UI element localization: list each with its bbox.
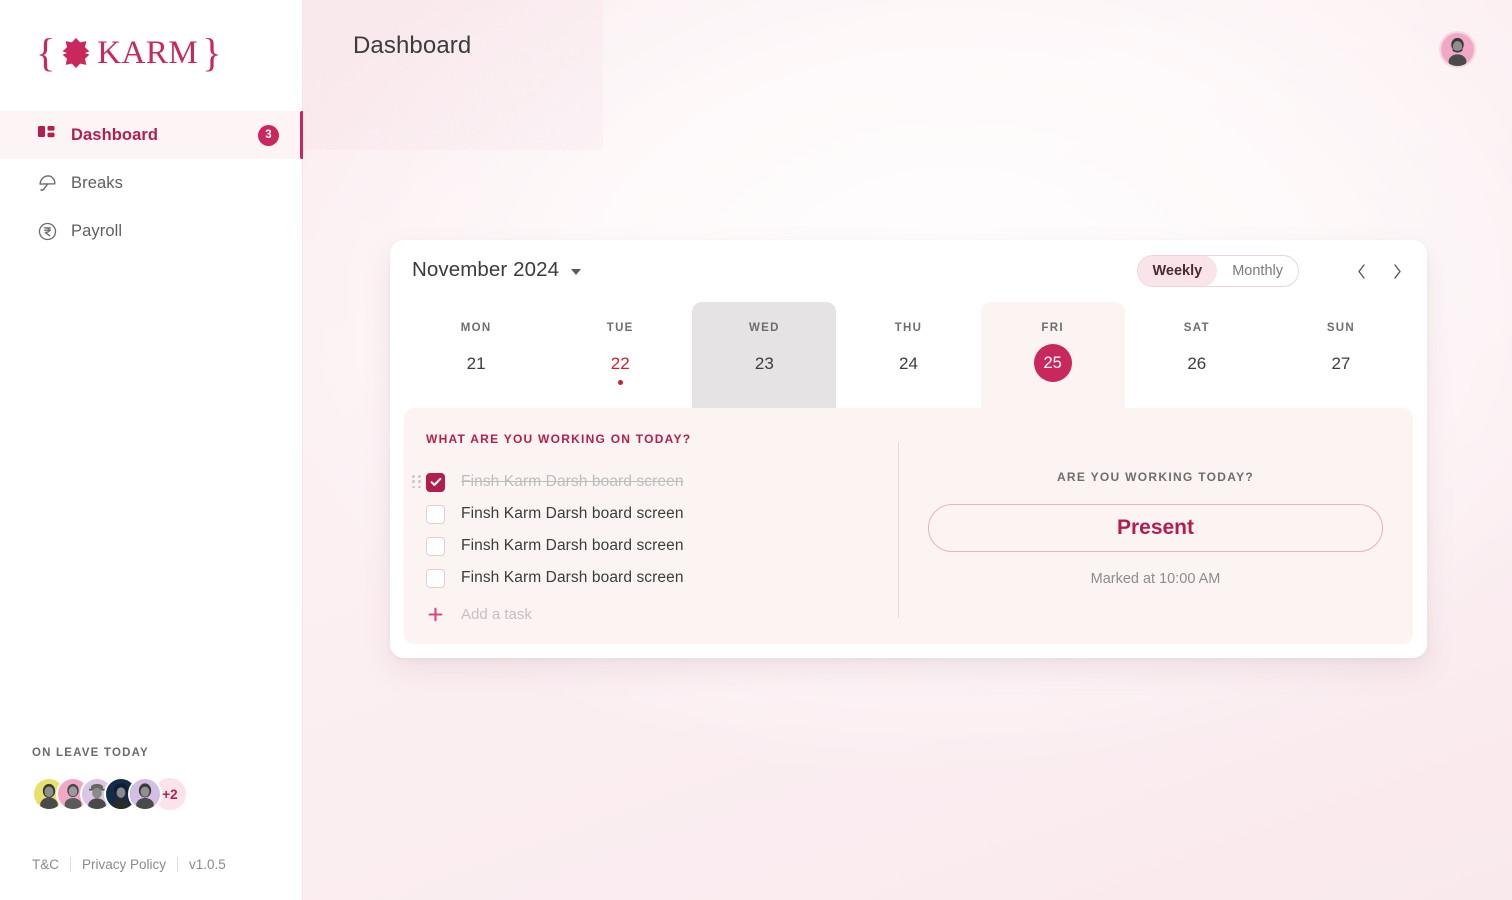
day-number: 21 <box>467 355 486 372</box>
task-label: Finsh Karm Darsh board screen <box>461 569 684 587</box>
task-item[interactable]: Finsh Karm Darsh board screen <box>426 530 898 562</box>
task-item[interactable]: Finsh Karm Darsh board screen <box>426 466 898 498</box>
task-checkbox[interactable] <box>426 537 445 556</box>
task-checkbox[interactable] <box>426 569 445 588</box>
sidebar-item-breaks[interactable]: Breaks <box>0 159 303 207</box>
day-number-selected: 25 <box>1034 344 1072 382</box>
attendance-section: ARE YOU WORKING TODAY? Present Marked at… <box>898 408 1413 644</box>
app-logo[interactable]: { KARM } <box>36 33 221 73</box>
sidebar-nav: Dashboard 3 Breaks <box>0 111 303 255</box>
logo-brace-left: { <box>36 33 55 73</box>
chevron-down-icon <box>571 269 581 275</box>
present-button[interactable]: Present <box>928 504 1383 552</box>
tab-monthly[interactable]: Monthly <box>1217 255 1298 287</box>
day-name: WED <box>749 322 780 334</box>
drag-handle-icon[interactable] <box>412 475 422 489</box>
day-number: 24 <box>899 355 918 372</box>
day-cell-mon[interactable]: MON 21 <box>404 302 548 414</box>
avatar[interactable] <box>128 777 162 811</box>
page-title: Dashboard <box>353 32 471 60</box>
umbrella-icon <box>36 172 58 194</box>
user-avatar[interactable] <box>1439 31 1476 68</box>
task-checkbox[interactable] <box>426 473 445 492</box>
on-leave-title: ON LEAVE TODAY <box>32 747 272 759</box>
month-selector[interactable]: November 2024 <box>412 258 581 282</box>
on-leave-avatars: +2 <box>32 776 272 812</box>
logo-text: KARM <box>97 37 198 70</box>
day-name: MON <box>461 322 492 334</box>
tasks-section: WHAT ARE YOU WORKING ON TODAY? Finsh Kar… <box>404 408 898 644</box>
week-navigation <box>1353 257 1405 285</box>
view-toggle[interactable]: Weekly Monthly <box>1137 255 1300 287</box>
sidebar-item-dashboard[interactable]: Dashboard 3 <box>0 111 303 159</box>
day-cell-sun[interactable]: SUN 27 <box>1269 302 1413 414</box>
sidebar-item-label: Breaks <box>71 174 123 193</box>
logo-star-icon <box>59 36 93 70</box>
day-name: FRI <box>1041 322 1063 334</box>
sidebar: { KARM } Dashboard 3 <box>0 0 303 900</box>
sidebar-footer: T&C Privacy Policy v1.0.5 <box>32 857 226 872</box>
footer-separator <box>70 857 71 872</box>
on-leave-today-section: ON LEAVE TODAY <box>32 747 272 812</box>
terms-link[interactable]: T&C <box>32 857 59 872</box>
marked-time-text: Marked at 10:00 AM <box>1091 571 1221 587</box>
sidebar-item-label: Dashboard <box>71 126 158 145</box>
grid-icon <box>36 124 58 146</box>
chevron-left-icon[interactable] <box>1353 257 1369 285</box>
day-name: THU <box>895 322 923 334</box>
sidebar-badge-count: 3 <box>258 125 279 146</box>
panel-divider <box>898 442 899 618</box>
tasks-section-label: WHAT ARE YOU WORKING ON TODAY? <box>426 432 898 446</box>
footer-separator <box>177 857 178 872</box>
add-task-button[interactable]: Add a task <box>426 598 898 630</box>
privacy-policy-link[interactable]: Privacy Policy <box>82 857 166 872</box>
tab-weekly[interactable]: Weekly <box>1138 255 1218 287</box>
plus-icon <box>426 607 445 622</box>
attendance-question-label: ARE YOU WORKING TODAY? <box>1057 470 1254 484</box>
day-number: 22 <box>611 355 630 372</box>
day-number: 26 <box>1187 355 1206 372</box>
task-checkbox[interactable] <box>426 505 445 524</box>
task-list: Finsh Karm Darsh board screen Finsh Karm… <box>426 466 898 630</box>
app-version: v1.0.5 <box>189 857 226 872</box>
add-task-label: Add a task <box>461 606 532 623</box>
day-name: TUE <box>607 322 634 334</box>
day-cell-wed[interactable]: WED 23 <box>692 302 836 414</box>
weekly-dashboard-card: November 2024 Weekly Monthly <box>390 240 1427 658</box>
logo-brace-right: } <box>202 33 221 73</box>
day-number: 23 <box>755 355 774 372</box>
task-label: Finsh Karm Darsh board screen <box>461 473 684 491</box>
rupee-circle-icon <box>36 220 58 242</box>
day-name: SAT <box>1184 322 1210 334</box>
calendar-header: November 2024 Weekly Monthly <box>390 240 1427 302</box>
sidebar-item-payroll[interactable]: Payroll <box>0 207 303 255</box>
month-label: November 2024 <box>412 258 559 282</box>
chevron-right-icon[interactable] <box>1389 257 1405 285</box>
holiday-dot-indicator <box>618 380 623 385</box>
task-item[interactable]: Finsh Karm Darsh board screen <box>426 562 898 594</box>
main-content: Dashboard November 2024 Weekly <box>303 0 1512 900</box>
task-item[interactable]: Finsh Karm Darsh board screen <box>426 498 898 530</box>
day-cell-fri[interactable]: FRI 25 <box>981 302 1125 414</box>
today-panel: WHAT ARE YOU WORKING ON TODAY? Finsh Kar… <box>404 408 1413 644</box>
day-name: SUN <box>1327 322 1355 334</box>
day-cell-sat[interactable]: SAT 26 <box>1125 302 1269 414</box>
week-strip: MON 21 TUE 22 WED 23 THU 24 <box>390 302 1427 414</box>
task-label: Finsh Karm Darsh board screen <box>461 505 684 523</box>
day-number: 27 <box>1331 355 1350 372</box>
day-cell-tue[interactable]: TUE 22 <box>548 302 692 414</box>
day-cell-thu[interactable]: THU 24 <box>836 302 980 414</box>
sidebar-item-label: Payroll <box>71 222 122 241</box>
task-label: Finsh Karm Darsh board screen <box>461 537 684 555</box>
top-bar: Dashboard <box>303 0 1512 96</box>
